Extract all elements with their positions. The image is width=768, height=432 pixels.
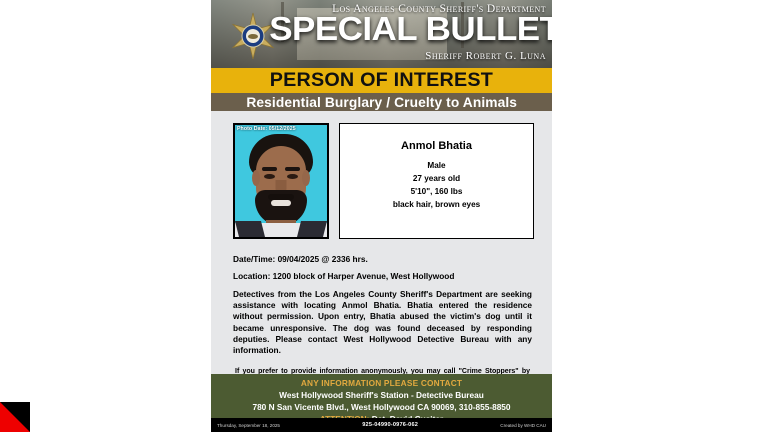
subject-name: Anmol Bhatia: [346, 140, 527, 152]
suit-lapel-right: [297, 221, 327, 237]
suit-lapel-left: [235, 221, 265, 237]
subject-age: 27 years old: [346, 174, 527, 183]
mouth-shape: [271, 200, 291, 206]
contact-heading: ANY INFORMATION PLEASE CONTACT: [211, 378, 552, 388]
eye-right-shape: [287, 174, 298, 179]
charges-banner: Residential Burglary / Cruelty to Animal…: [211, 93, 552, 111]
corner-red-triangle: [0, 402, 30, 432]
subject-section: Photo Date: 05/12/2025 Anmol Bhatia Male…: [211, 111, 552, 245]
header-sheriff-name: Sheriff Robert G. Luna: [425, 50, 546, 62]
person-of-interest-banner: PERSON OF INTEREST: [211, 68, 552, 93]
subject-photo: Photo Date: 05/12/2025: [233, 123, 329, 239]
incident-location: Location: 1200 block of Harper Avenue, W…: [233, 271, 532, 281]
subject-details-panel: Anmol Bhatia Male 27 years old 5'10", 16…: [339, 123, 534, 239]
subject-sex: Male: [346, 161, 527, 170]
page-title: SPECIAL BULLETIN: [269, 12, 548, 46]
contact-station: West Hollywood Sheriff's Station - Detec…: [211, 390, 552, 400]
footer-bar: Thursday, September 18, 2025 925-04990-0…: [211, 418, 552, 432]
banner-primary-text: PERSON OF INTEREST: [270, 70, 493, 92]
contact-address: 780 N San Vicente Blvd., West Hollywood …: [211, 402, 552, 412]
bulletin-header: Los Angeles County Sheriff's Department …: [211, 0, 552, 68]
footer-credit: Created by WHD CAU: [500, 423, 546, 428]
eye-left-shape: [264, 174, 275, 179]
incident-narrative: Detectives from the Los Angeles County S…: [233, 289, 532, 356]
footer-date: Thursday, September 18, 2025: [217, 423, 280, 428]
footer-case-number: 925-04990-0976-062: [280, 422, 500, 428]
incident-datetime: Date/Time: 09/04/2025 @ 2336 hrs.: [233, 254, 532, 264]
contact-section: ANY INFORMATION PLEASE CONTACT West Holl…: [211, 374, 552, 418]
banner-secondary-text: Residential Burglary / Cruelty to Animal…: [246, 95, 517, 110]
corner-marker-graphic: [0, 402, 30, 432]
eyebrow-left-shape: [262, 167, 277, 171]
bulletin-page: Los Angeles County Sheriff's Department …: [211, 0, 552, 432]
bulletin-screenshot: Los Angeles County Sheriff's Department …: [0, 0, 768, 432]
ear-right-shape: [302, 170, 310, 186]
photo-date-label: Photo Date: 05/12/2025: [237, 126, 296, 132]
subject-height-weight: 5'10", 160 lbs: [346, 187, 527, 196]
eyebrow-right-shape: [285, 167, 300, 171]
subject-features: black hair, brown eyes: [346, 200, 527, 209]
ear-left-shape: [252, 170, 260, 186]
